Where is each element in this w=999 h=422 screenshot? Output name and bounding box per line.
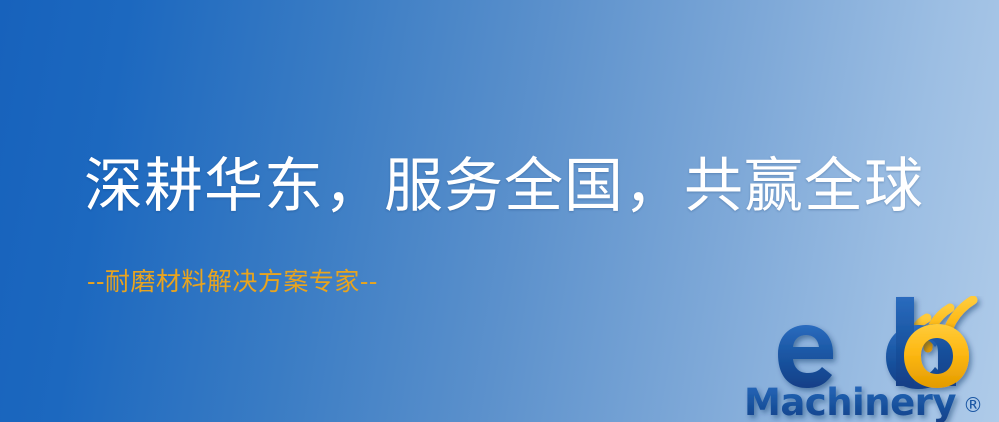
logo-tagline-machinery: Machinery (744, 381, 956, 422)
promo-banner: 深耕华东，服务全国，共赢全球 --耐磨材料解决方案专家-- (0, 0, 999, 422)
echo-machinery-logo: Machinery ® echo Machinery (742, 296, 999, 422)
banner-subtitle: --耐磨材料解决方案专家-- (87, 266, 378, 298)
logo-artwork: Machinery ® (742, 296, 999, 422)
banner-headline: 深耕华东，服务全国，共赢全球 (84, 150, 924, 222)
registered-trademark-icon: ® (963, 393, 983, 417)
